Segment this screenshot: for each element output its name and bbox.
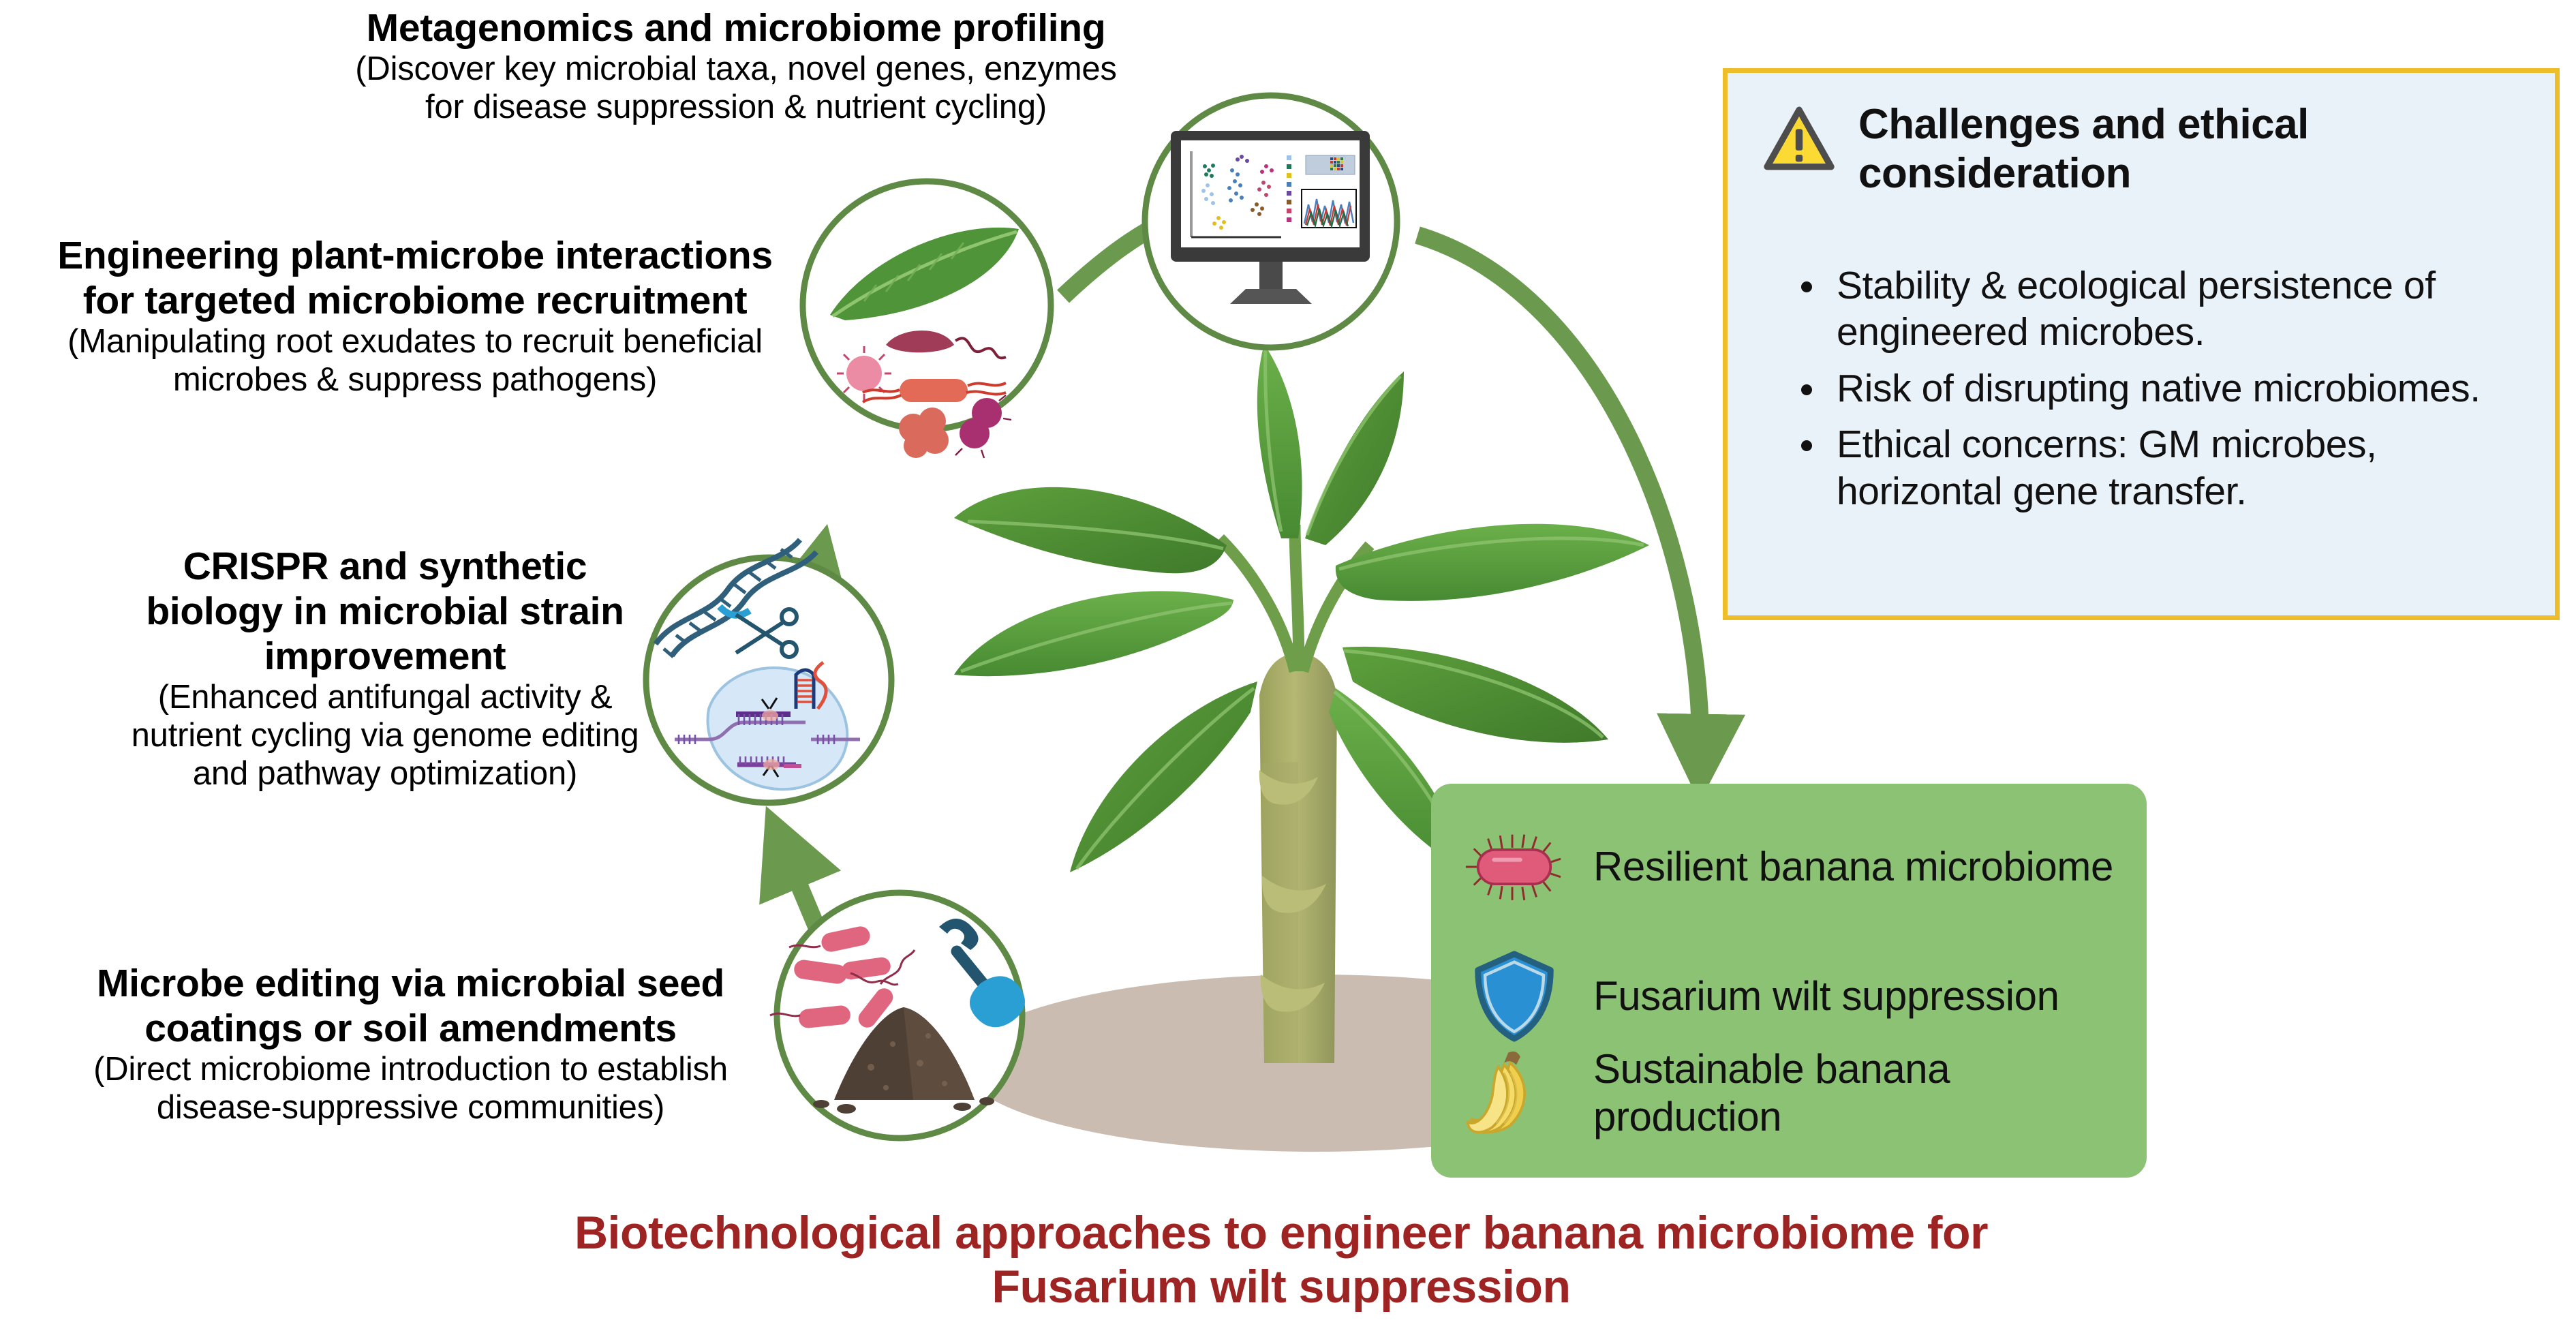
label-crispr-title-line1: CRISPR and synthetic	[41, 544, 729, 589]
outcome-item-sustainable-production: Sustainable banana production	[1464, 1043, 2145, 1144]
bacterium-icon	[1464, 816, 1565, 917]
outcome-label: Sustainable banana production	[1593, 1045, 2145, 1140]
label-engineering-title-line1: Engineering plant-microbe interactions	[0, 233, 834, 278]
label-crispr-title-line2: biology in microbial strain	[41, 589, 729, 634]
label-engineering-title-line2: for targeted microbiome recruitment	[0, 278, 834, 323]
circle-metagenomics	[1145, 95, 1397, 348]
label-seed-coating-subtitle-line2: disease-suppressive communities)	[14, 1089, 808, 1127]
label-metagenomics: Metagenomics and microbiome profiling (D…	[286, 5, 1186, 127]
challenges-title-line2: consideration	[1858, 149, 2309, 198]
label-metagenomics-title: Metagenomics and microbiome profiling	[286, 5, 1186, 50]
label-engineering-subtitle-line1: (Manipulating root exudates to recruit b…	[0, 323, 834, 361]
label-crispr-subtitle-line1: (Enhanced antifungal activity &	[41, 679, 729, 717]
challenges-list: Stability & ecological persistence of en…	[1786, 262, 2534, 524]
figure-main-title-line1: Biotechnological approaches to engineer …	[368, 1206, 2194, 1260]
banana-bunch-icon	[1464, 1043, 1565, 1144]
label-metagenomics-subtitle-line1: (Discover key microbial taxa, novel gene…	[286, 50, 1186, 89]
figure-main-title: Biotechnological approaches to engineer …	[368, 1206, 2194, 1314]
label-seed-coating-subtitle-line1: (Direct microbiome introduction to estab…	[14, 1051, 808, 1089]
label-crispr-subtitle-line3: and pathway optimization)	[41, 755, 729, 793]
figure-canvas: Metagenomics and microbiome profiling (D…	[0, 0, 2576, 1333]
outcome-label: Fusarium wilt suppression	[1593, 972, 2059, 1020]
figure-main-title-line2: Fusarium wilt suppression	[368, 1260, 2194, 1314]
label-engineering-subtitle-line2: microbes & suppress pathogens)	[0, 361, 834, 399]
outcomes-panel: Resilient banana microbiome Fusarium wil…	[1431, 784, 2147, 1178]
circle-engineering	[803, 181, 1051, 458]
shield-icon	[1464, 946, 1565, 1047]
challenge-item: Stability & ecological persistence of en…	[1786, 262, 2534, 356]
outcome-label: Resilient banana microbiome	[1593, 843, 2113, 891]
challenges-title: Challenges and ethical consideration	[1858, 99, 2309, 198]
challenges-title-line1: Challenges and ethical	[1858, 100, 2309, 149]
challenges-panel: Challenges and ethical consideration Sta…	[1723, 68, 2560, 620]
challenge-item: Risk of disrupting native microbiomes.	[1786, 365, 2534, 412]
warning-triangle-icon	[1763, 106, 1835, 171]
label-seed-coating: Microbe editing via microbial seed coati…	[14, 961, 808, 1127]
label-engineering: Engineering plant-microbe interactions f…	[0, 233, 834, 399]
label-crispr-subtitle-line2: nutrient cycling via genome editing	[41, 717, 729, 755]
label-crispr-title-line3: improvement	[41, 634, 729, 679]
label-seed-coating-title-line2: coatings or soil amendments	[14, 1006, 808, 1051]
label-seed-coating-title-line1: Microbe editing via microbial seed	[14, 961, 808, 1006]
label-metagenomics-subtitle-line2: for disease suppression & nutrient cycli…	[286, 89, 1186, 127]
challenge-item: Ethical concerns: GM microbes, horizonta…	[1786, 421, 2534, 515]
challenges-header: Challenges and ethical consideration	[1763, 99, 2526, 198]
circle-seed-coating	[770, 893, 1025, 1138]
outcome-item-resilient-microbiome: Resilient banana microbiome	[1464, 816, 2145, 917]
outcome-item-wilt-suppression: Fusarium wilt suppression	[1464, 946, 2145, 1047]
label-crispr: CRISPR and synthetic biology in microbia…	[41, 544, 729, 793]
